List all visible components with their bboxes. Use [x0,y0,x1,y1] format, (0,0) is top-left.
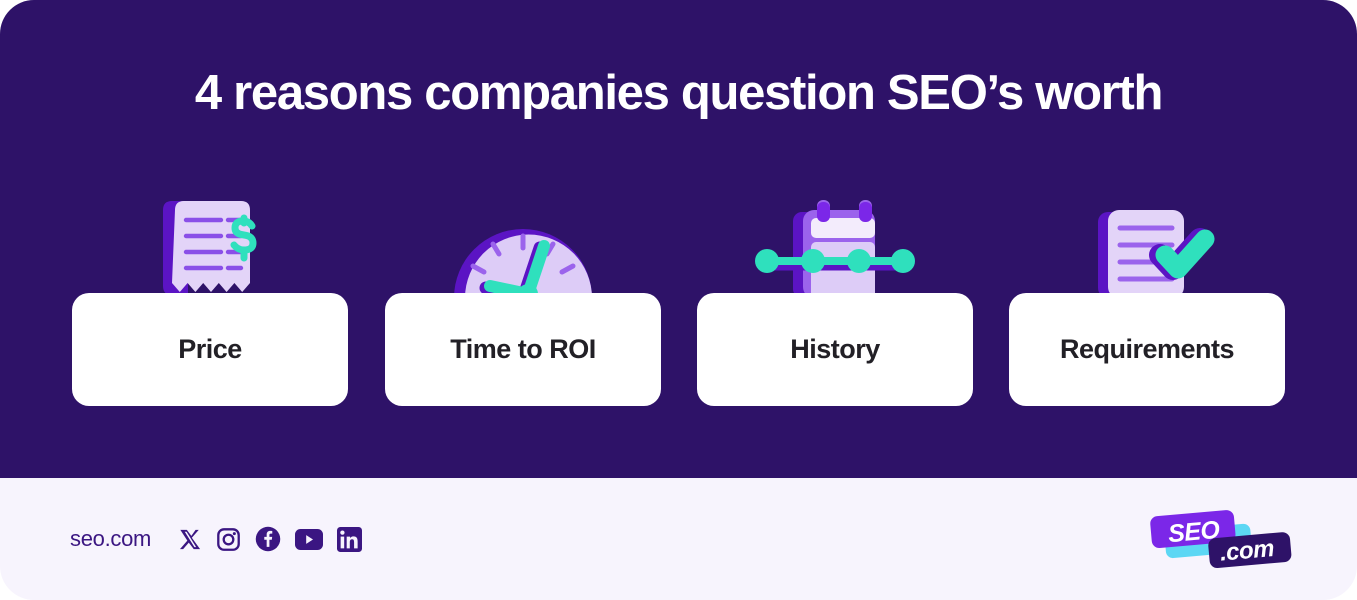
x-twitter-icon[interactable] [179,528,202,551]
social-links [179,526,362,552]
footer-brand-text: seo.com [70,526,151,552]
reason-card-history[interactable]: History [697,293,973,406]
logo-suffix-text: .com [1219,535,1275,567]
infographic-canvas: 4 reasons companies question SEO’s worth [0,0,1357,600]
seo-com-logo[interactable]: SEO .com [1143,508,1295,570]
linkedin-icon[interactable] [337,527,362,552]
reason-card-time-to-roi[interactable]: Time to ROI [385,293,661,406]
reason-label: Price [178,334,242,365]
instagram-icon[interactable] [216,527,241,552]
reason-item-time-to-roi[interactable]: Time to ROI [385,293,661,406]
youtube-icon[interactable] [295,529,323,550]
reason-item-requirements[interactable]: Requirements [1009,293,1285,406]
facebook-icon[interactable] [255,526,281,552]
reason-label: Time to ROI [450,334,596,365]
reason-item-price[interactable]: Price [72,293,348,406]
page-title: 4 reasons companies question SEO’s worth [0,66,1357,121]
footer-bar: seo.com [0,478,1357,600]
footer-left-group: seo.com [70,526,362,552]
reason-item-history[interactable]: History [697,293,973,406]
reason-label: Requirements [1060,334,1234,365]
reason-label: History [790,334,880,365]
reason-card-requirements[interactable]: Requirements [1009,293,1285,406]
reason-card-price[interactable]: Price [72,293,348,406]
